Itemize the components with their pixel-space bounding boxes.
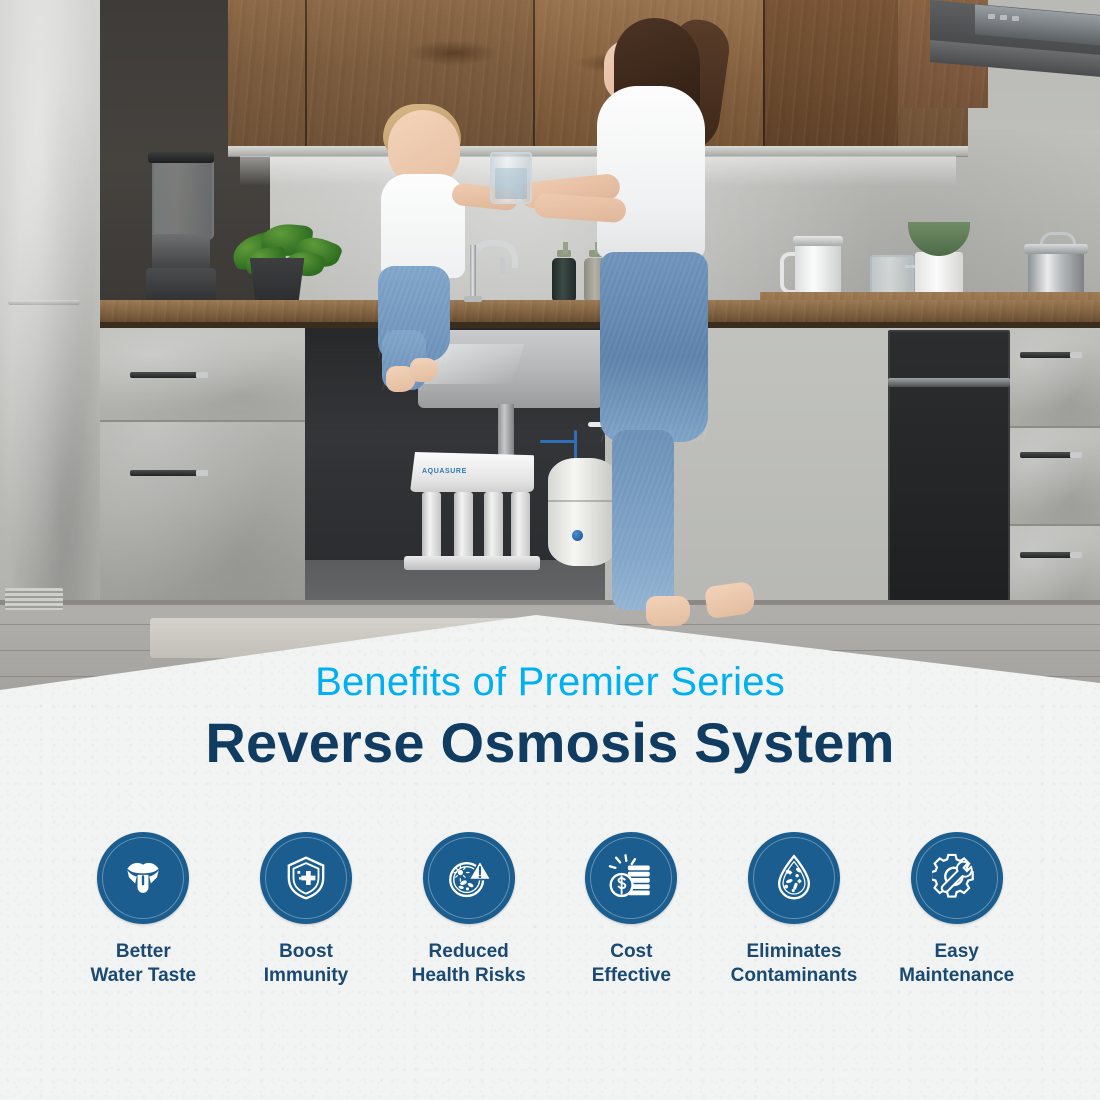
benefit-item[interactable]: Boost Immunity [225,832,388,987]
banner-title: Reverse Osmosis System [0,710,1100,775]
cabinet-seam [763,0,765,152]
woman-shirt [597,86,705,258]
gear-wrench-icon [932,853,982,903]
faucet-base [464,296,482,302]
built-in-oven[interactable] [888,330,1010,624]
benefit-label: Eliminates Contaminants [731,940,858,987]
woman-jeans-leg [612,430,674,610]
ro-tank-valve [572,530,583,541]
drawer-handle-cap [1070,352,1082,358]
benefit-label: Boost Immunity [264,940,348,987]
petri-dish-warning-icon [444,853,494,903]
ro-unit-base-tray [404,556,540,570]
benefit-item[interactable]: Cost Effective [550,832,713,987]
faucet-spout [500,258,505,274]
blender-lid [148,152,214,163]
woman-foot [646,596,690,626]
cabinet-seam [305,0,307,152]
benefit-label: Reduced Health Risks [412,940,526,987]
ro-brand-label: AQUASURE [422,468,467,475]
drawer-handle-cap [196,372,208,378]
drawer-handle-cap [1070,452,1082,458]
child-foot [410,358,438,382]
ro-tubing [574,430,577,460]
floor-vent [5,588,63,610]
cabinet-handle [8,300,80,305]
benefit-icon-circle [260,832,352,924]
benefit-label: Cost Effective [592,940,671,987]
upper-cabinet-3 [763,0,898,152]
ro-storage-tank [548,458,618,566]
benefit-item[interactable]: Easy Maintenance [875,832,1038,987]
cabinet-seam [533,0,535,152]
faucet-neck [470,245,476,301]
base-drawer [1006,330,1100,428]
hood-button [1012,16,1019,21]
ro-tubing [540,440,576,443]
benefit-item[interactable]: Reduced Health Risks [387,832,550,987]
ro-system-unit: AQUASURE [410,452,534,570]
baseboard [0,600,1100,605]
ro-filter-cartridge [484,492,503,558]
benefits-list: Better Water Taste Boost Immunity [0,832,1100,987]
pot-lid [1024,244,1088,254]
benefit-item[interactable]: Better Water Taste [62,832,225,987]
benefit-label: Better Water Taste [91,940,197,987]
base-drawer [1006,428,1100,526]
ro-filter-cartridge [454,492,473,558]
benefit-icon-circle [585,832,677,924]
soap-dispenser-dark [552,258,576,304]
drawer-handle-cap [1070,552,1082,558]
benefit-icon-circle [97,832,189,924]
infographic-page: AQUASURE [0,0,1100,1100]
benefit-item[interactable]: Eliminates Contaminants [713,832,876,987]
coins-dollar-icon [606,853,656,903]
plant-pot [246,258,308,306]
kitchen-photo: AQUASURE [0,0,1100,700]
woman-jeans [600,252,708,442]
water-glass [490,152,532,204]
shield-plus-icon [281,853,331,903]
hood-button [1000,15,1007,20]
drawer-handle-cap [196,470,208,476]
mouth-tongue-icon [118,853,168,903]
water-droplet-contaminants-icon [769,853,819,903]
hood-button [988,14,995,19]
ro-tank-seam [548,500,618,502]
benefit-label: Easy Maintenance [899,940,1014,987]
benefit-icon-circle [423,832,515,924]
faucet-arc [470,240,518,268]
ro-filter-cartridge [422,492,441,558]
soap-pump [563,242,568,254]
benefit-icon-circle [911,832,1003,924]
ro-filter-cartridge [511,492,530,558]
tall-cabinet-left [0,0,100,640]
blender-jar [152,160,214,240]
oven-door-handle[interactable] [888,378,1010,387]
kettle-lid [793,236,843,246]
benefit-icon-circle [748,832,840,924]
